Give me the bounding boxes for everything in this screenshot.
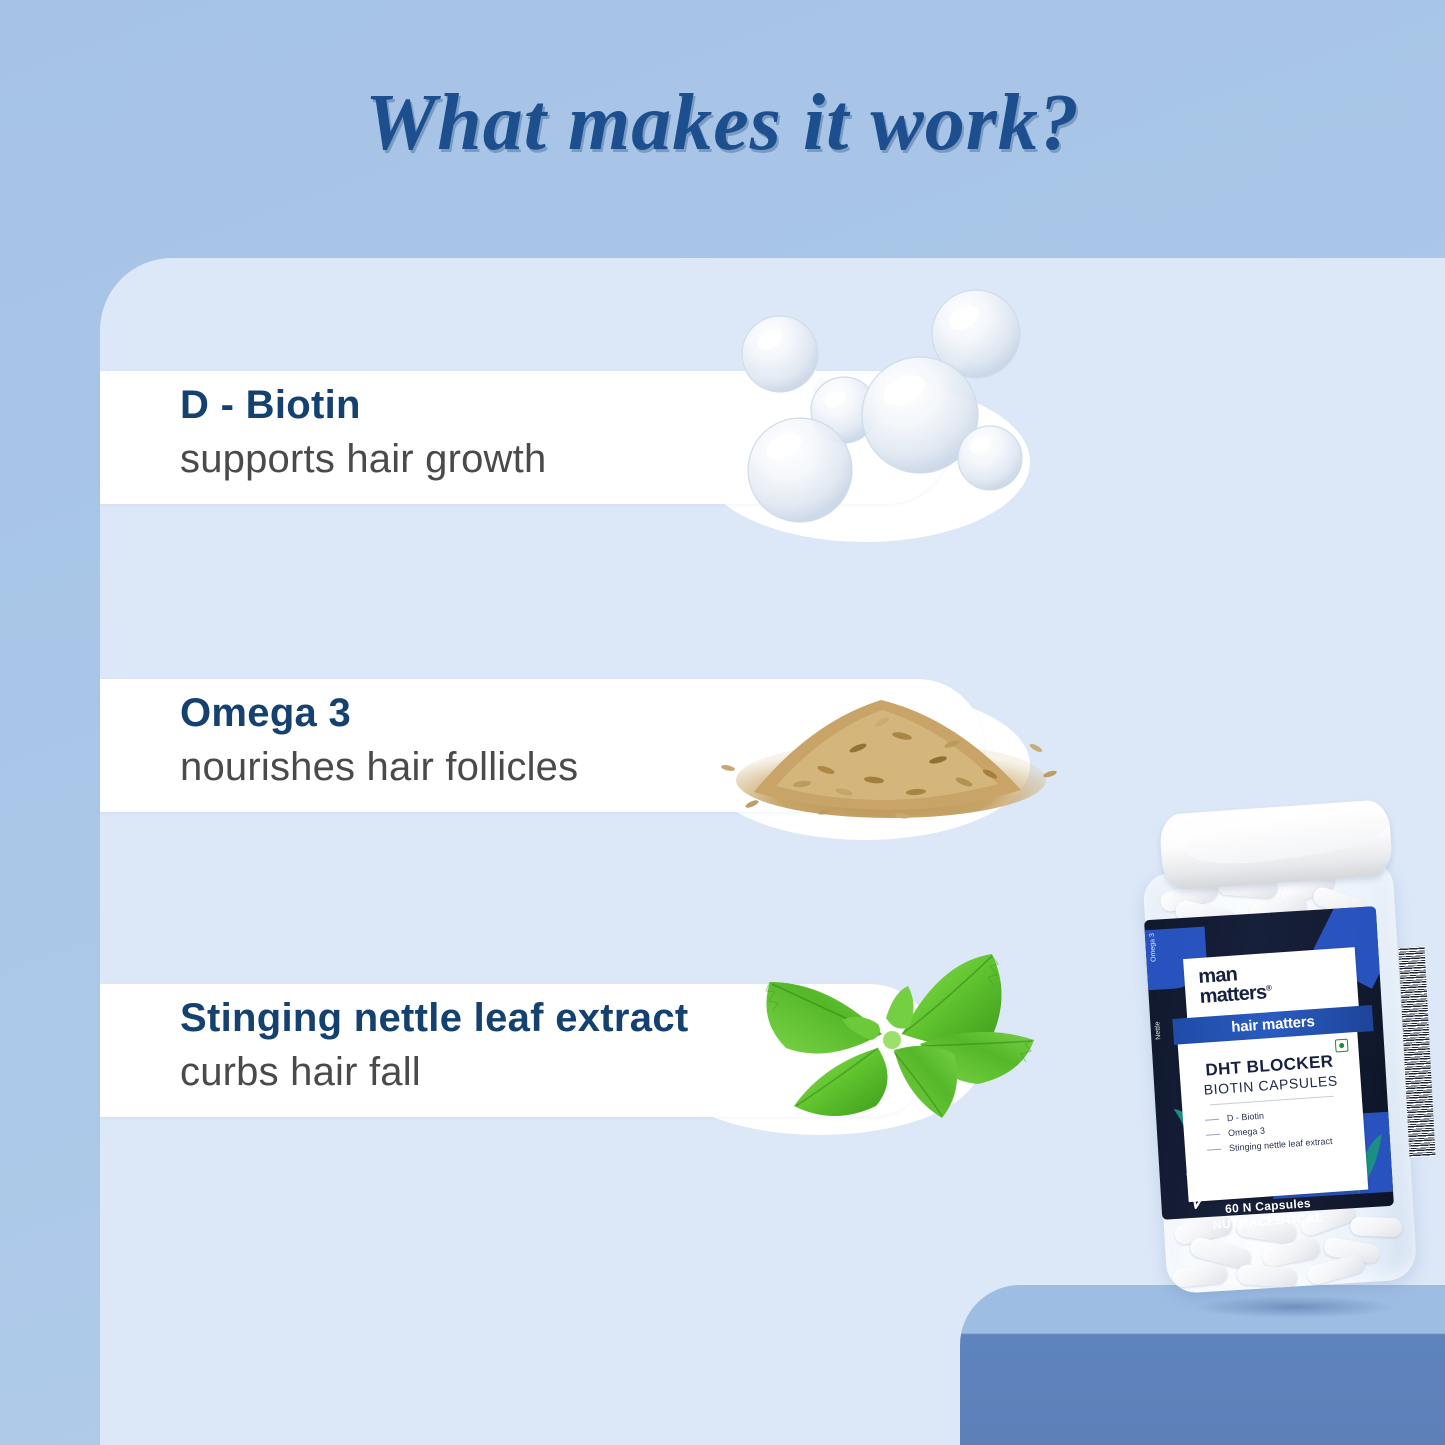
bottle-cap <box>1159 799 1394 891</box>
molecule-icon <box>718 282 1038 532</box>
ingredient-desc-3: curbs hair fall <box>180 1047 689 1097</box>
bottle-shadow <box>1195 1296 1395 1318</box>
divider <box>1210 1096 1334 1106</box>
product-bottle: Omega 3 Nettle man matters® hair matters… <box>1143 795 1438 1295</box>
bottle-cap-top <box>1182 800 1391 872</box>
ingredient-desc-1: supports hair growth <box>180 434 546 484</box>
ingredient-row-1: D - Biotin supports hair growth <box>180 382 546 484</box>
vegetarian-mark-icon <box>1335 1039 1349 1053</box>
brand-logo: man matters® <box>1198 963 1272 1007</box>
product-info-block: DHT BLOCKER BIOTIN CAPSULES D - Biotin O… <box>1178 1032 1369 1202</box>
label-ingredient-list: D - Biotin Omega 3 Stinging nettle leaf … <box>1205 1104 1366 1160</box>
ingredient-row-3: Stinging nettle leaf extract curbs hair … <box>180 995 689 1097</box>
bottle-side-text-2: Nettle <box>1154 1021 1162 1040</box>
brand-line-2: matters <box>1199 981 1267 1008</box>
flax-seeds-icon <box>706 652 1076 832</box>
nettle-leaf-icon <box>742 948 1052 1128</box>
infographic-root: What makes it work? D - Biotin supports … <box>0 0 1445 1445</box>
ingredient-row-2: Omega 3 nourishes hair follicles <box>180 690 578 792</box>
ingredient-name-3: Stinging nettle leaf extract <box>180 995 689 1041</box>
ingredient-name-1: D - Biotin <box>180 382 546 428</box>
ingredient-desc-2: nourishes hair follicles <box>180 742 578 792</box>
vegetarian-dot <box>1339 1043 1344 1048</box>
trademark-symbol: ® <box>1266 983 1272 992</box>
ingredient-name-2: Omega 3 <box>180 690 578 736</box>
page-title: What makes it work? <box>0 78 1445 169</box>
